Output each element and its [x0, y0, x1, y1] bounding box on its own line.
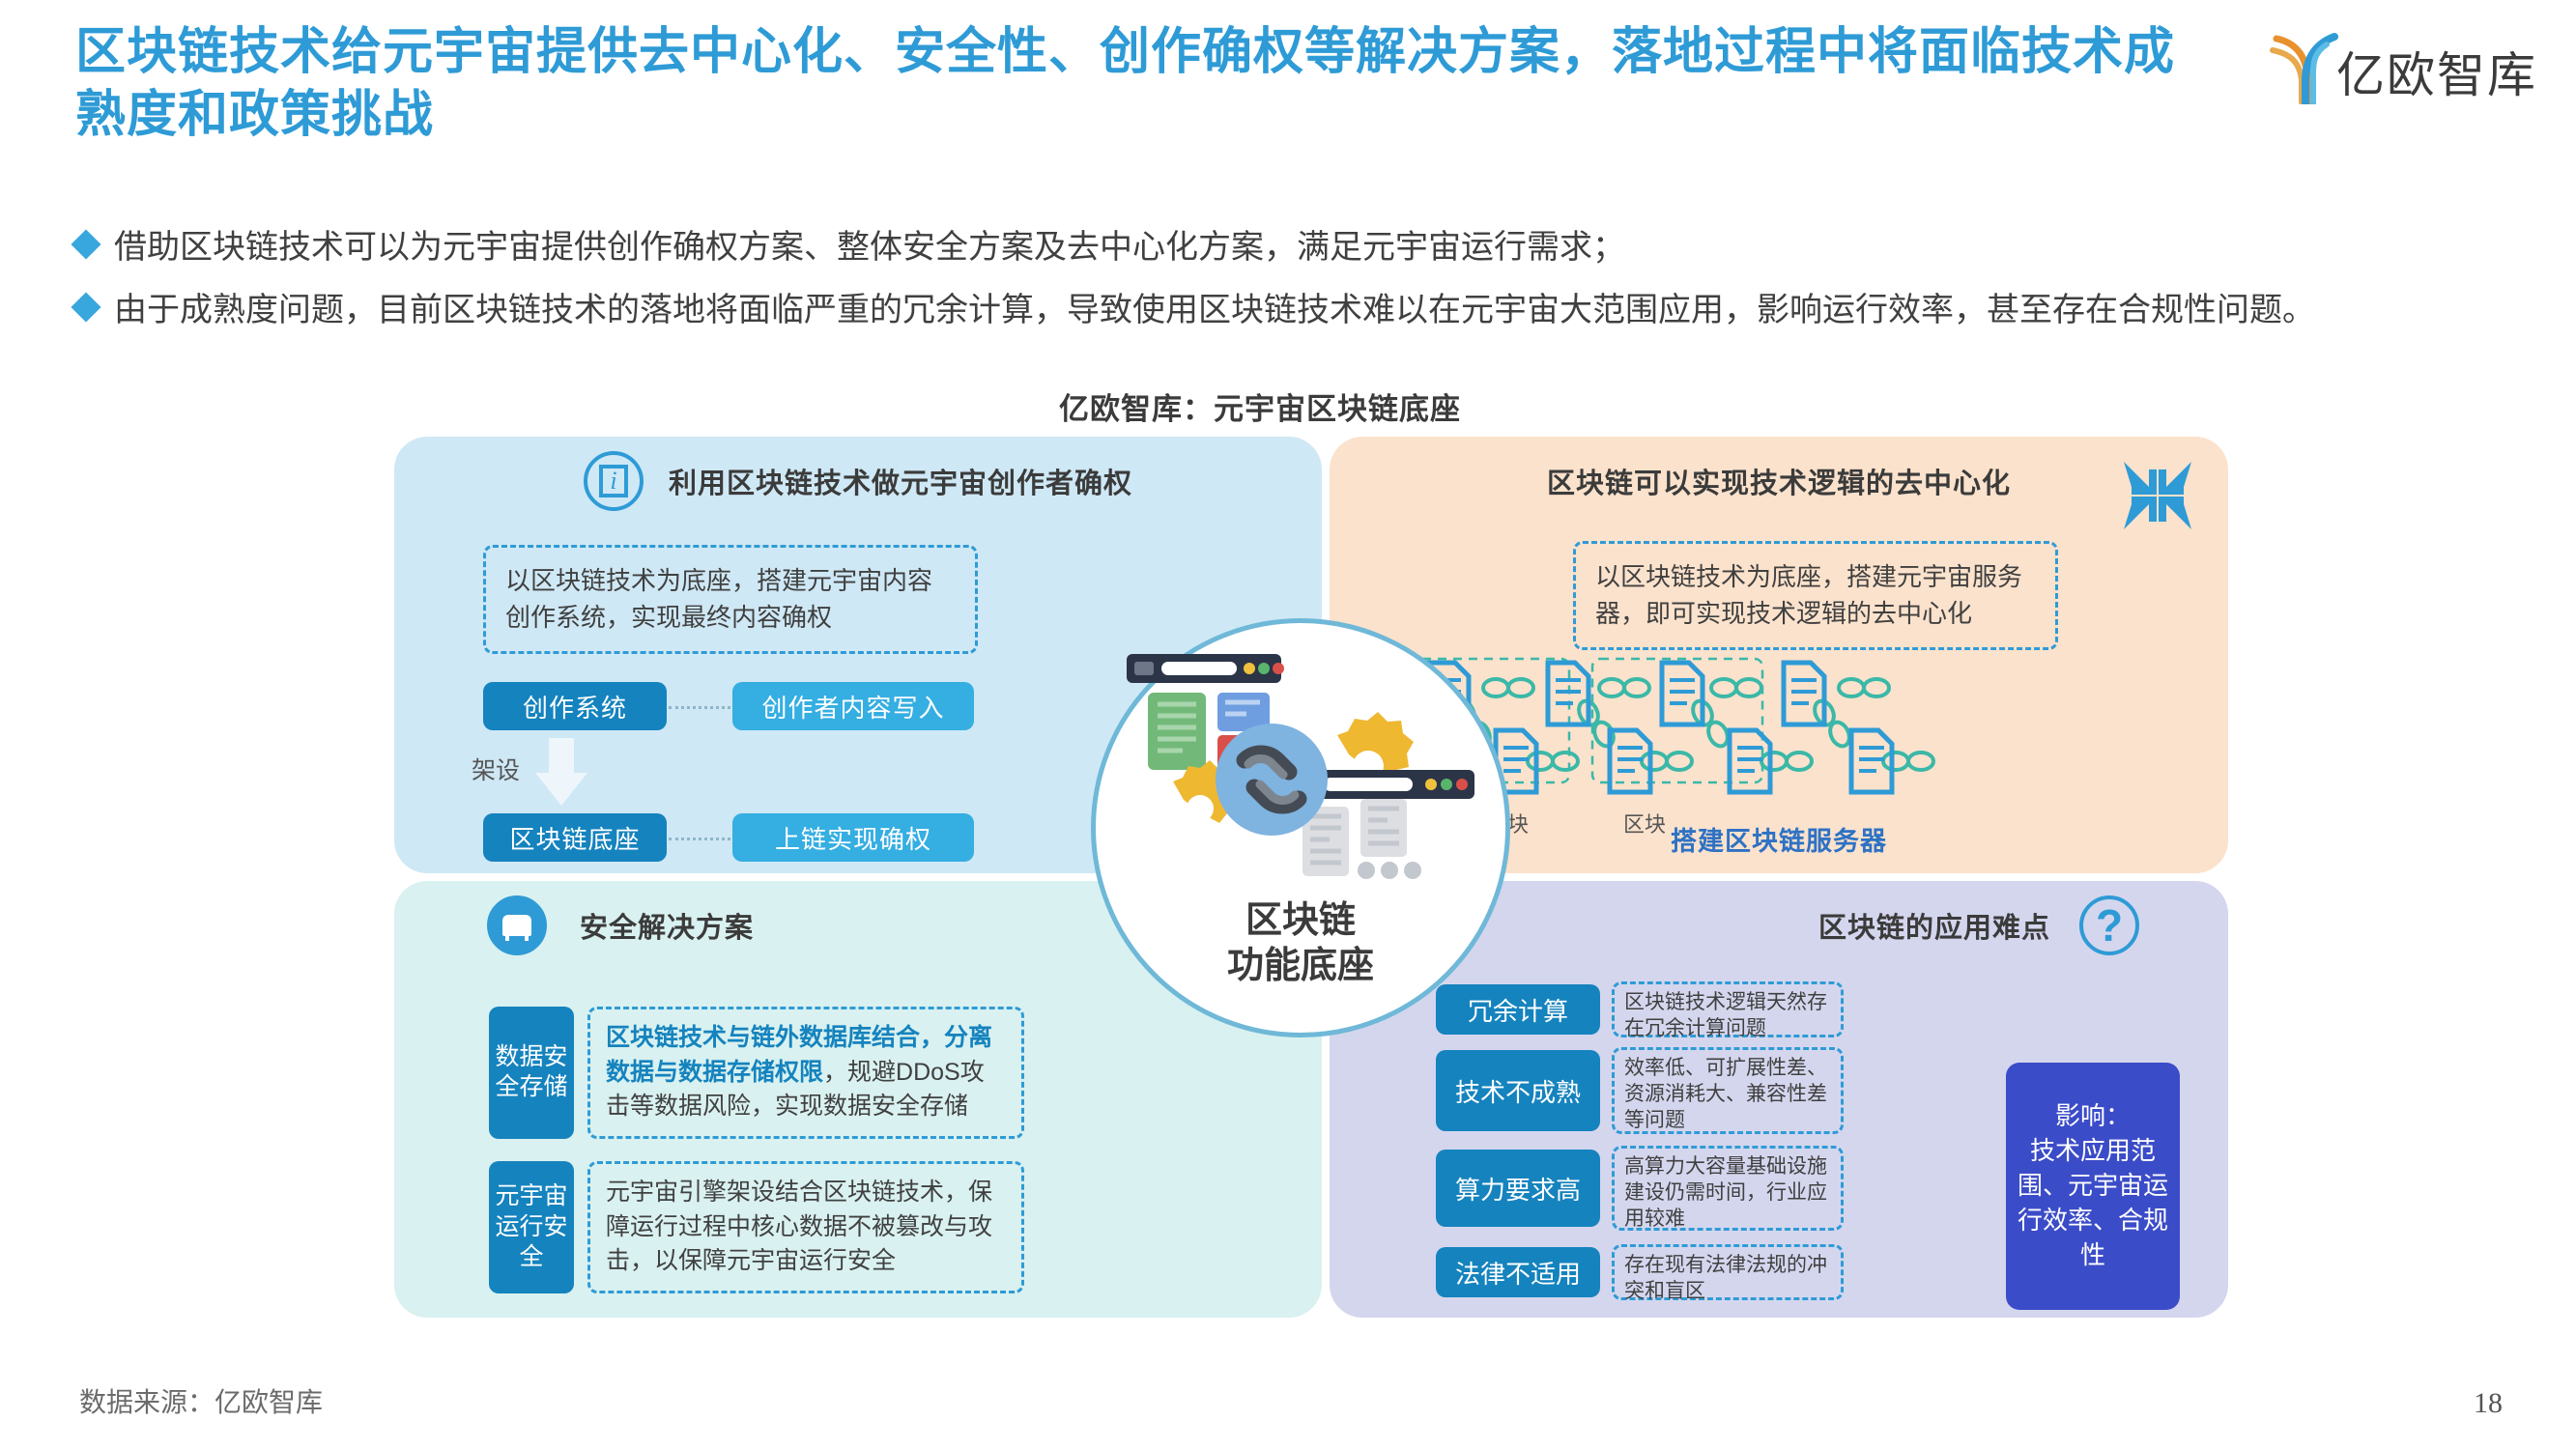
info-icon: i [584, 451, 644, 511]
challenge-note: 效率低、可扩展性差、资源消耗大、兼容性差等问题 [1612, 1047, 1844, 1134]
diamond-bullet-icon [71, 229, 100, 259]
challenge-chip[interactable]: 法律不适用 [1436, 1247, 1600, 1297]
shield-sofa-icon [487, 895, 547, 955]
chip-creator-write[interactable]: 创作者内容写入 [732, 682, 974, 730]
down-arrow-head-icon [535, 773, 587, 806]
panel-header: i 利用区块链技术做元宇宙创作者确权 [394, 437, 1322, 526]
chip-blockchain-base[interactable]: 区块链底座 [483, 813, 667, 862]
challenge-note: 区块链技术逻辑天然存在冗余计算问题 [1612, 981, 1844, 1037]
panel-title: 利用区块链技术做元宇宙创作者确权 [669, 461, 1132, 501]
row-tag: 数据安全存储 [489, 1007, 574, 1139]
row-body: 区块链技术与链外数据库结合，分离数据与数据存储权限，规避DDoS攻击等数据风险，… [587, 1007, 1024, 1139]
panel-title: 区块链的应用难点 [1818, 905, 2050, 946]
bullet-text: 借助区块链技术可以为元宇宙提供创作确权方案、整体安全方案及去中心化方案，满足元宇… [114, 224, 1625, 271]
challenge-chip[interactable]: 技术不成熟 [1436, 1050, 1600, 1131]
diamond-bullet-icon [71, 293, 100, 323]
challenge-chip[interactable]: 算力要求高 [1436, 1150, 1600, 1227]
blockchain-illustration [1117, 646, 1494, 936]
bullet-list: 借助区块链技术可以为元宇宙提供创作确权方案、整体安全方案及去中心化方案，满足元宇… [75, 224, 2491, 351]
list-item: 借助区块链技术可以为元宇宙提供创作确权方案、整体安全方案及去中心化方案，满足元宇… [75, 224, 2491, 271]
list-item: 由于成熟度问题，目前区块链技术的落地将面临严重的冗余计算，导致使用区块链技术难以… [75, 287, 2491, 334]
page-title: 区块链技术给元宇宙提供去中心化、安全性、创作确权等解决方案，落地过程中将面临技术… [75, 21, 2182, 147]
list-item: 技术不成熟 效率低、可扩展性差、资源消耗大、兼容性差等问题 [1436, 1047, 1844, 1134]
arrow-label: 架设 [472, 752, 520, 786]
center-label: 区块链 功能底座 [1096, 898, 1505, 988]
list-item: 算力要求高 高算力大容量基础设施建设仍需时间，行业应用较难 [1436, 1146, 1844, 1231]
center-label-line2: 功能底座 [1096, 944, 1505, 988]
list-item: 数据安全存储 区块链技术与链外数据库结合，分离数据与数据存储权限，规避DDoS攻… [489, 1007, 1024, 1139]
source-note: 数据来源：亿欧智库 [79, 1381, 323, 1420]
page-number: 18 [2474, 1387, 2503, 1420]
panel-description: 以区块链技术为底座，搭建元宇宙服务器，即可实现技术逻辑的去中心化 [1573, 541, 2058, 650]
yiou-logo-mark [2267, 29, 2338, 104]
row-body: 元宇宙引擎架设结合区块链技术，保障运行过程中核心数据不被篡改与攻击，以保障元宇宙… [587, 1161, 1024, 1293]
panel-header: 区块链可以实现技术逻辑的去中心化 [1330, 437, 2228, 526]
impact-box: 影响： 技术应用范围、元宇宙运行效率、合规性 [2006, 1063, 2180, 1310]
row-tag: 元宇宙运行安全 [489, 1161, 574, 1293]
collapse-arrows-icon [2120, 458, 2195, 533]
panel-title: 区块链可以实现技术逻辑的去中心化 [1547, 461, 2011, 501]
panel-title: 安全解决方案 [580, 905, 754, 946]
chip-create-system[interactable]: 创作系统 [483, 682, 667, 730]
chip-onchain-right[interactable]: 上链实现确权 [732, 813, 974, 862]
panel-description: 以区块链技术为底座，搭建元宇宙内容创作系统，实现最终内容确权 [483, 545, 978, 654]
challenge-note: 存在现有法律法规的冲突和盲区 [1612, 1244, 1844, 1300]
connector-line [669, 706, 730, 709]
center-label-line1: 区块链 [1096, 898, 1505, 943]
connector-line [669, 838, 730, 840]
figure-title: 亿欧智库：元宇宙区块链底座 [1059, 384, 1461, 428]
list-item: 法律不适用 存在现有法律法规的冲突和盲区 [1436, 1244, 1844, 1300]
brand-logo-text: 亿欧智库 [2336, 37, 2537, 106]
bullet-text: 由于成熟度问题，目前区块链技术的落地将面临严重的冗余计算，导致使用区块链技术难以… [114, 287, 2315, 334]
challenge-chip[interactable]: 冗余计算 [1436, 984, 1600, 1035]
center-hub: 区块链 功能底座 [1091, 618, 1510, 1037]
question-icon: ? [2079, 895, 2139, 955]
challenge-note: 高算力大容量基础设施建设仍需时间，行业应用较难 [1612, 1146, 1844, 1231]
list-item: 元宇宙运行安全 元宇宙引擎架设结合区块链技术，保障运行过程中核心数据不被篡改与攻… [489, 1161, 1024, 1293]
brand-logo: 亿欧智库 [2267, 25, 2557, 108]
list-item: 冗余计算 区块链技术逻辑天然存在冗余计算问题 [1436, 981, 1844, 1037]
